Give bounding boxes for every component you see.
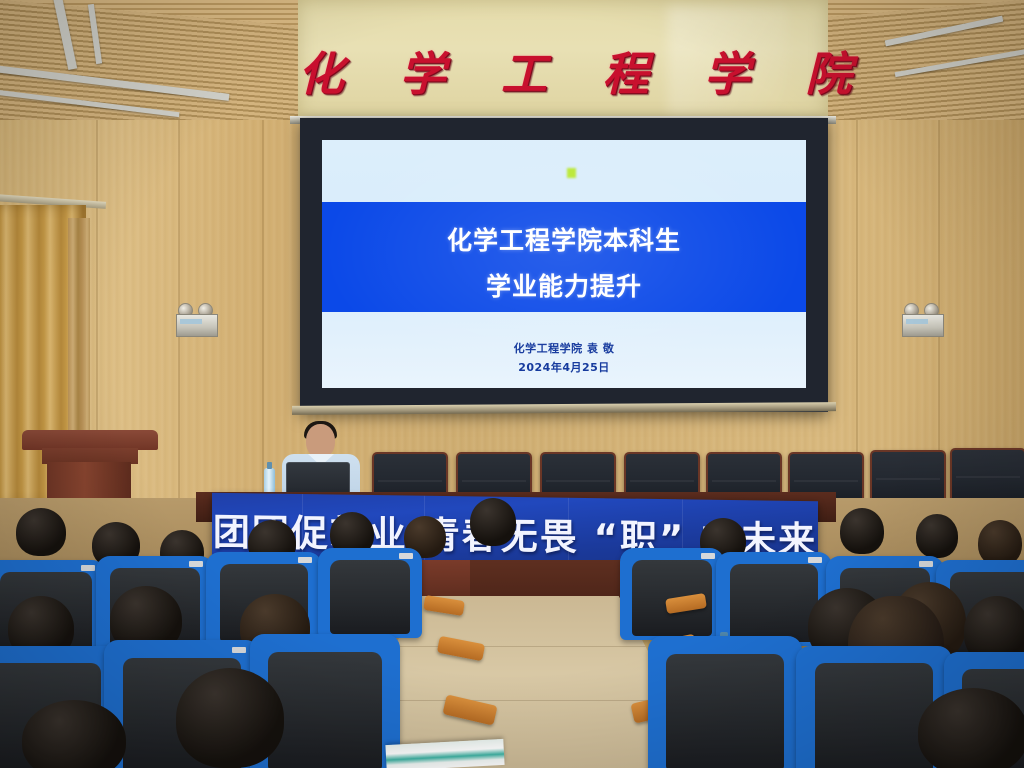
audience-head [918,688,1024,768]
emergency-light-body [176,314,218,337]
seat-number-tag [81,565,95,571]
slide-date-line: 2024年4月25日 [322,359,806,375]
audience-head [470,498,516,546]
seat-number-tag [399,553,413,559]
podium-top [22,430,158,450]
wall-seam [262,120,264,520]
audience-head [916,514,958,558]
projection-screen[interactable]: 化学工程学院本科生 学业能力提升 化学工程学院 袁 敬 2024年4月25日 [300,118,828,412]
seat-cushion [666,654,783,768]
seat-number-tag [808,557,822,563]
seat-number-tag [232,647,246,653]
nameplate-panel: 化 学 工 程 学 院 [298,0,828,122]
seat-cushion [815,663,934,768]
seat-number-tag [919,561,933,567]
seat-number-tag [298,557,312,563]
seat-cushion [268,652,382,768]
slide-title-line-1: 化学工程学院本科生 [322,221,806,257]
audience-head [16,508,66,556]
presentation-slide: 化学工程学院本科生 学业能力提升 化学工程学院 袁 敬 2024年4月25日 [322,140,806,388]
seat-cushion [730,564,818,642]
laser-pointer-dot-icon [567,168,576,178]
auditorium-seat[interactable] [648,636,802,768]
slide-presenter-line: 化学工程学院 袁 敬 [322,340,806,356]
booklet[interactable] [385,739,504,768]
seat-cushion [330,560,409,635]
slide-title-line-2: 学业能力提升 [322,267,806,303]
audience-head [840,508,884,554]
seat-number-tag [189,561,203,567]
lecture-hall-photo: 化 学 工 程 学 院 化学工程学院本科生 学业能力提升 化学工程学院 袁 敬 … [0,0,1024,768]
emergency-light-body [902,314,944,337]
seat-number-tag [701,553,715,559]
auditorium-seat[interactable] [318,548,422,638]
stage-curtain-fold [68,218,90,463]
presenter-head [306,424,335,458]
auditorium-seat[interactable] [620,548,724,640]
wall-sign-text: 化 学 工 程 学 院 [298,38,828,104]
audience-head [176,668,284,768]
